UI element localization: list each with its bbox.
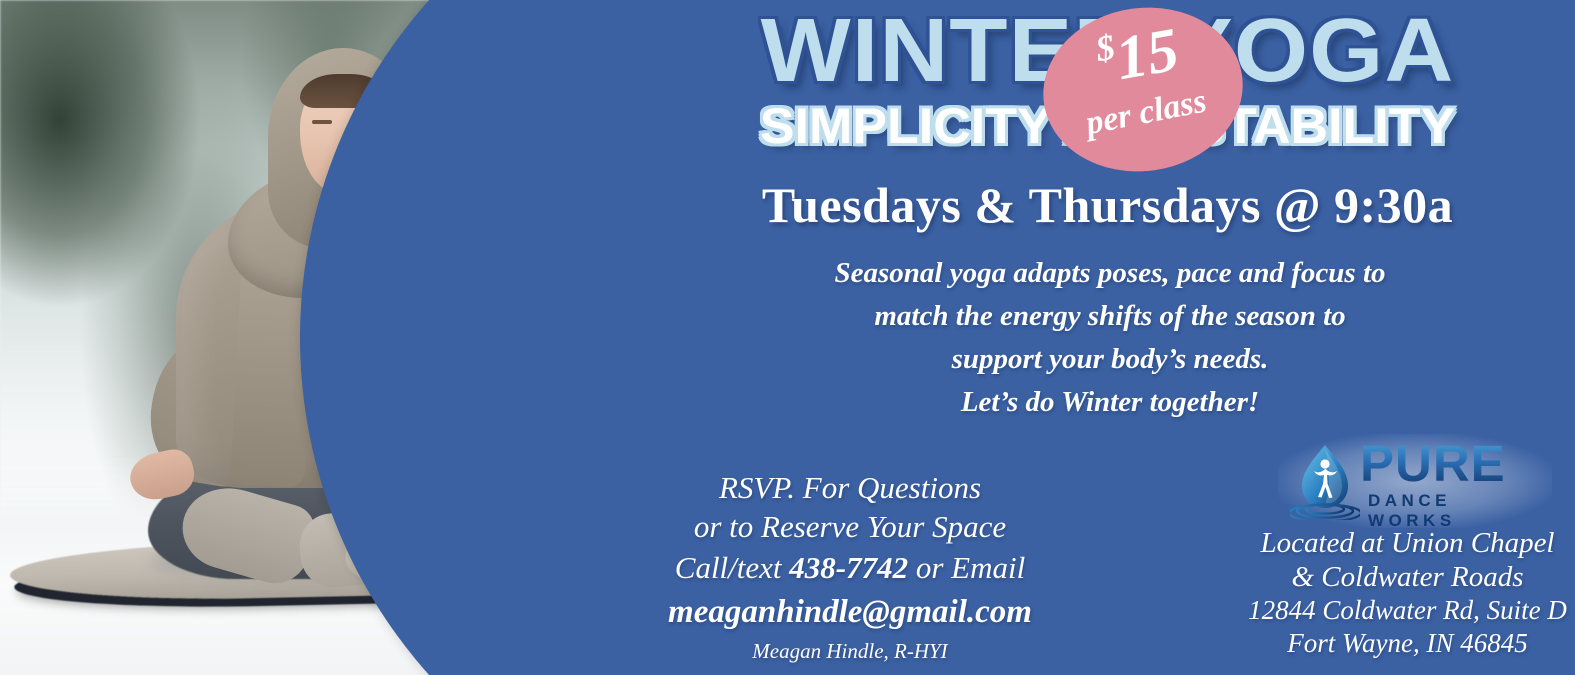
description-line: support your body’s needs.: [700, 338, 1520, 381]
address-block: Located at Union Chapel & Coldwater Road…: [1240, 526, 1575, 659]
eye-left: [312, 120, 332, 124]
address-line-1: Located at Union Chapel: [1240, 526, 1575, 560]
rsvp-line-1: RSVP. For Questions: [650, 468, 1050, 507]
call-prefix: Call/text: [675, 550, 790, 585]
winter-yoga-flyer: WINTER YOGA SIMPLICITY AND STABILITY Tue…: [0, 0, 1575, 675]
address-line-3: 12844 Coldwater Rd, Suite D: [1240, 594, 1575, 626]
water-droplet-dancer-icon: [1290, 442, 1360, 520]
logo-wordmark: PURE: [1360, 438, 1506, 489]
description-block: Seasonal yoga adapts poses, pace and foc…: [700, 252, 1520, 424]
price-value: 15: [1111, 16, 1184, 94]
instructor-credential: Meagan Hindle, R-HYI: [650, 638, 1050, 665]
description-line: Seasonal yoga adapts poses, pace and foc…: [700, 252, 1520, 295]
rsvp-call-line: Call/text 438-7742 or Email: [650, 548, 1050, 587]
description-line: match the energy shifts of the season to: [700, 295, 1520, 338]
description-line: Let’s do Winter together!: [700, 381, 1520, 424]
email-address[interactable]: meaganhindle@gmail.com: [650, 591, 1050, 634]
logo-tagline: DANCE WORKS: [1368, 491, 1540, 531]
phone-number[interactable]: 438-7742: [789, 550, 908, 585]
rsvp-block: RSVP. For Questions or to Reserve Your S…: [650, 468, 1050, 665]
pure-dance-works-logo[interactable]: PURE DANCE WORKS: [1290, 442, 1540, 520]
address-line-4: Fort Wayne, IN 46845: [1240, 627, 1575, 659]
call-suffix: or Email: [908, 550, 1025, 585]
flyer-content: WINTER YOGA SIMPLICITY AND STABILITY Tue…: [640, 0, 1575, 675]
rsvp-line-2: or to Reserve Your Space: [650, 507, 1050, 546]
schedule-text: Tuesdays & Thursdays @ 9:30a: [640, 176, 1575, 234]
address-line-2: & Coldwater Roads: [1240, 560, 1575, 594]
